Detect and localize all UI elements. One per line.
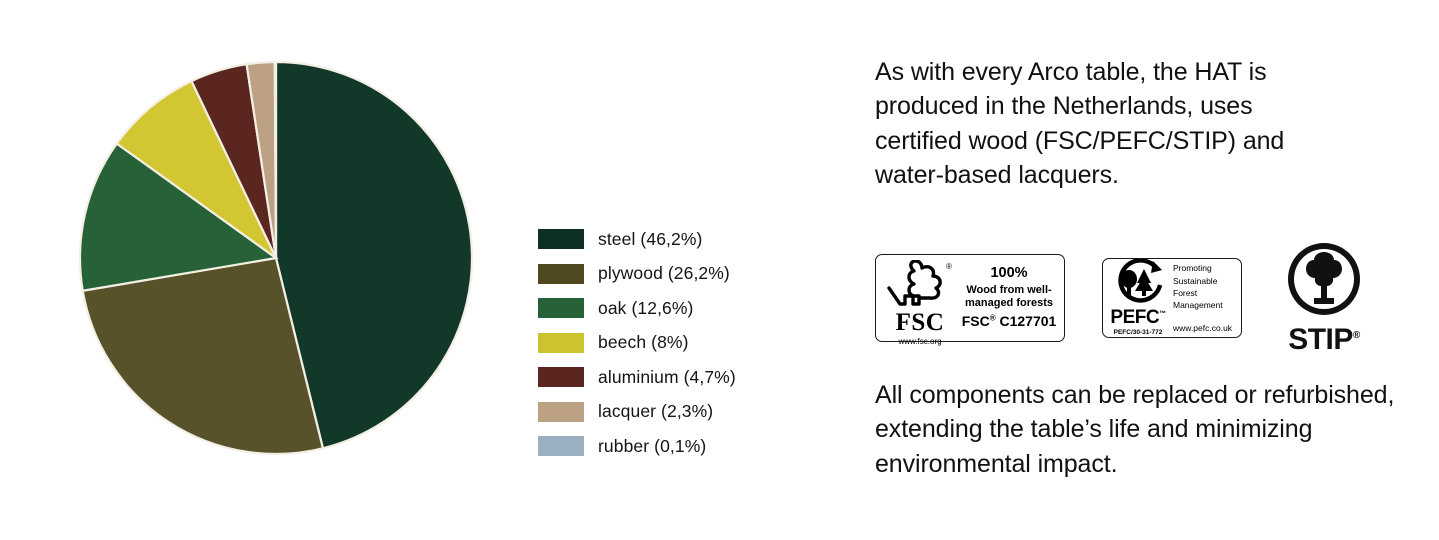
legend-swatch-steel [538, 229, 584, 249]
fsc-description: Wood from well- managed forests [961, 284, 1057, 309]
fsc-percent: 100% [961, 266, 1057, 282]
pefc-trees-icon-svg [1110, 259, 1166, 303]
pefc-url: www.pefc.co.uk [1173, 323, 1235, 333]
legend-swatch-beech [538, 333, 584, 353]
fsc-wordmark: FSC [883, 310, 957, 335]
legend-item-beech: beech (8%) [538, 326, 798, 361]
fsc-tree-icon-svg: ® [883, 260, 957, 310]
fsc-code-suffix: C127701 [996, 313, 1057, 329]
legend-swatch-rubber [538, 436, 584, 456]
legend-label-lacquer: lacquer (2,3%) [598, 403, 713, 421]
stip-wordmark: STIP® [1276, 325, 1372, 355]
fsc-text-block: 100% Wood from well- managed forests FSC… [957, 266, 1057, 328]
legend-item-aluminium: aluminium (4,7%) [538, 360, 798, 395]
pie-slice-group [80, 62, 472, 454]
paragraph-production-info: As with every Arco table, the HAT is pro… [875, 55, 1345, 192]
legend-item-steel: steel (46,2%) [538, 222, 798, 257]
stip-registered-mark: ® [1353, 330, 1360, 341]
pefc-wordmark: PEFC™ [1109, 308, 1167, 327]
pefc-description-line1: Promoting [1173, 263, 1212, 273]
certification-logo-row: ® FSC www.fsc.org 100% Wood from well- m… [875, 240, 1372, 355]
legend-item-plywood: plywood (26,2%) [538, 257, 798, 292]
pefc-description: Promoting Sustainable Forest Management [1173, 262, 1235, 311]
info-column: As with every Arco table, the HAT is pro… [875, 55, 1405, 192]
legend-swatch-aluminium [538, 367, 584, 387]
fsc-code-prefix: FSC [962, 313, 990, 329]
pie-slice-rubber [275, 62, 276, 258]
legend-item-rubber: rubber (0,1%) [538, 429, 798, 464]
fsc-tree-checkmark-icon: ® FSC www.fsc.org [883, 260, 957, 336]
pefc-trees-icon: PEFC™ PEFC/30-31-772 [1109, 259, 1167, 336]
pie-chart [60, 40, 500, 480]
legend-label-steel: steel (46,2%) [598, 231, 702, 249]
pie-chart-svg [60, 40, 500, 480]
stip-certification-logo: STIP® [1276, 240, 1372, 355]
legend-swatch-oak [538, 298, 584, 318]
fsc-description-line1: Wood from well- [966, 284, 1051, 296]
fsc-license-code: FSC® C127701 [961, 313, 1057, 329]
legend-swatch-lacquer [538, 402, 584, 422]
legend-label-plywood: plywood (26,2%) [598, 265, 730, 283]
fsc-url: www.fsc.org [883, 337, 957, 346]
fsc-certification-logo: ® FSC www.fsc.org 100% Wood from well- m… [875, 254, 1065, 342]
svg-text:®: ® [946, 262, 952, 271]
legend-item-lacquer: lacquer (2,3%) [538, 395, 798, 430]
pefc-trademark-mark: ™ [1159, 311, 1166, 318]
pefc-text-block: Promoting Sustainable Forest Management … [1167, 262, 1235, 332]
stip-wordmark-text: STIP [1288, 323, 1353, 356]
legend-item-oak: oak (12,6%) [538, 291, 798, 326]
pefc-description-line2: Sustainable Forest [1173, 276, 1217, 298]
chart-legend: steel (46,2%) plywood (26,2%) oak (12,6%… [538, 222, 798, 464]
paragraph-circularity-info: All components can be replaced or refurb… [875, 378, 1395, 481]
legend-label-oak: oak (12,6%) [598, 300, 693, 318]
legend-label-aluminium: aluminium (4,7%) [598, 369, 736, 387]
pefc-wordmark-text: PEFC [1110, 307, 1159, 328]
pefc-license-code: PEFC/30-31-772 [1109, 329, 1167, 336]
legend-label-rubber: rubber (0,1%) [598, 438, 706, 456]
pefc-description-line3: Management [1173, 300, 1223, 310]
legend-label-beech: beech (8%) [598, 334, 689, 352]
legend-swatch-plywood [538, 264, 584, 284]
pefc-certification-logo: PEFC™ PEFC/30-31-772 Promoting Sustainab… [1102, 258, 1242, 338]
fsc-description-line2: managed forests [965, 297, 1053, 309]
stip-tree-circle-icon [1285, 240, 1363, 318]
closing-paragraph-block: All components can be replaced or refurb… [875, 378, 1395, 481]
